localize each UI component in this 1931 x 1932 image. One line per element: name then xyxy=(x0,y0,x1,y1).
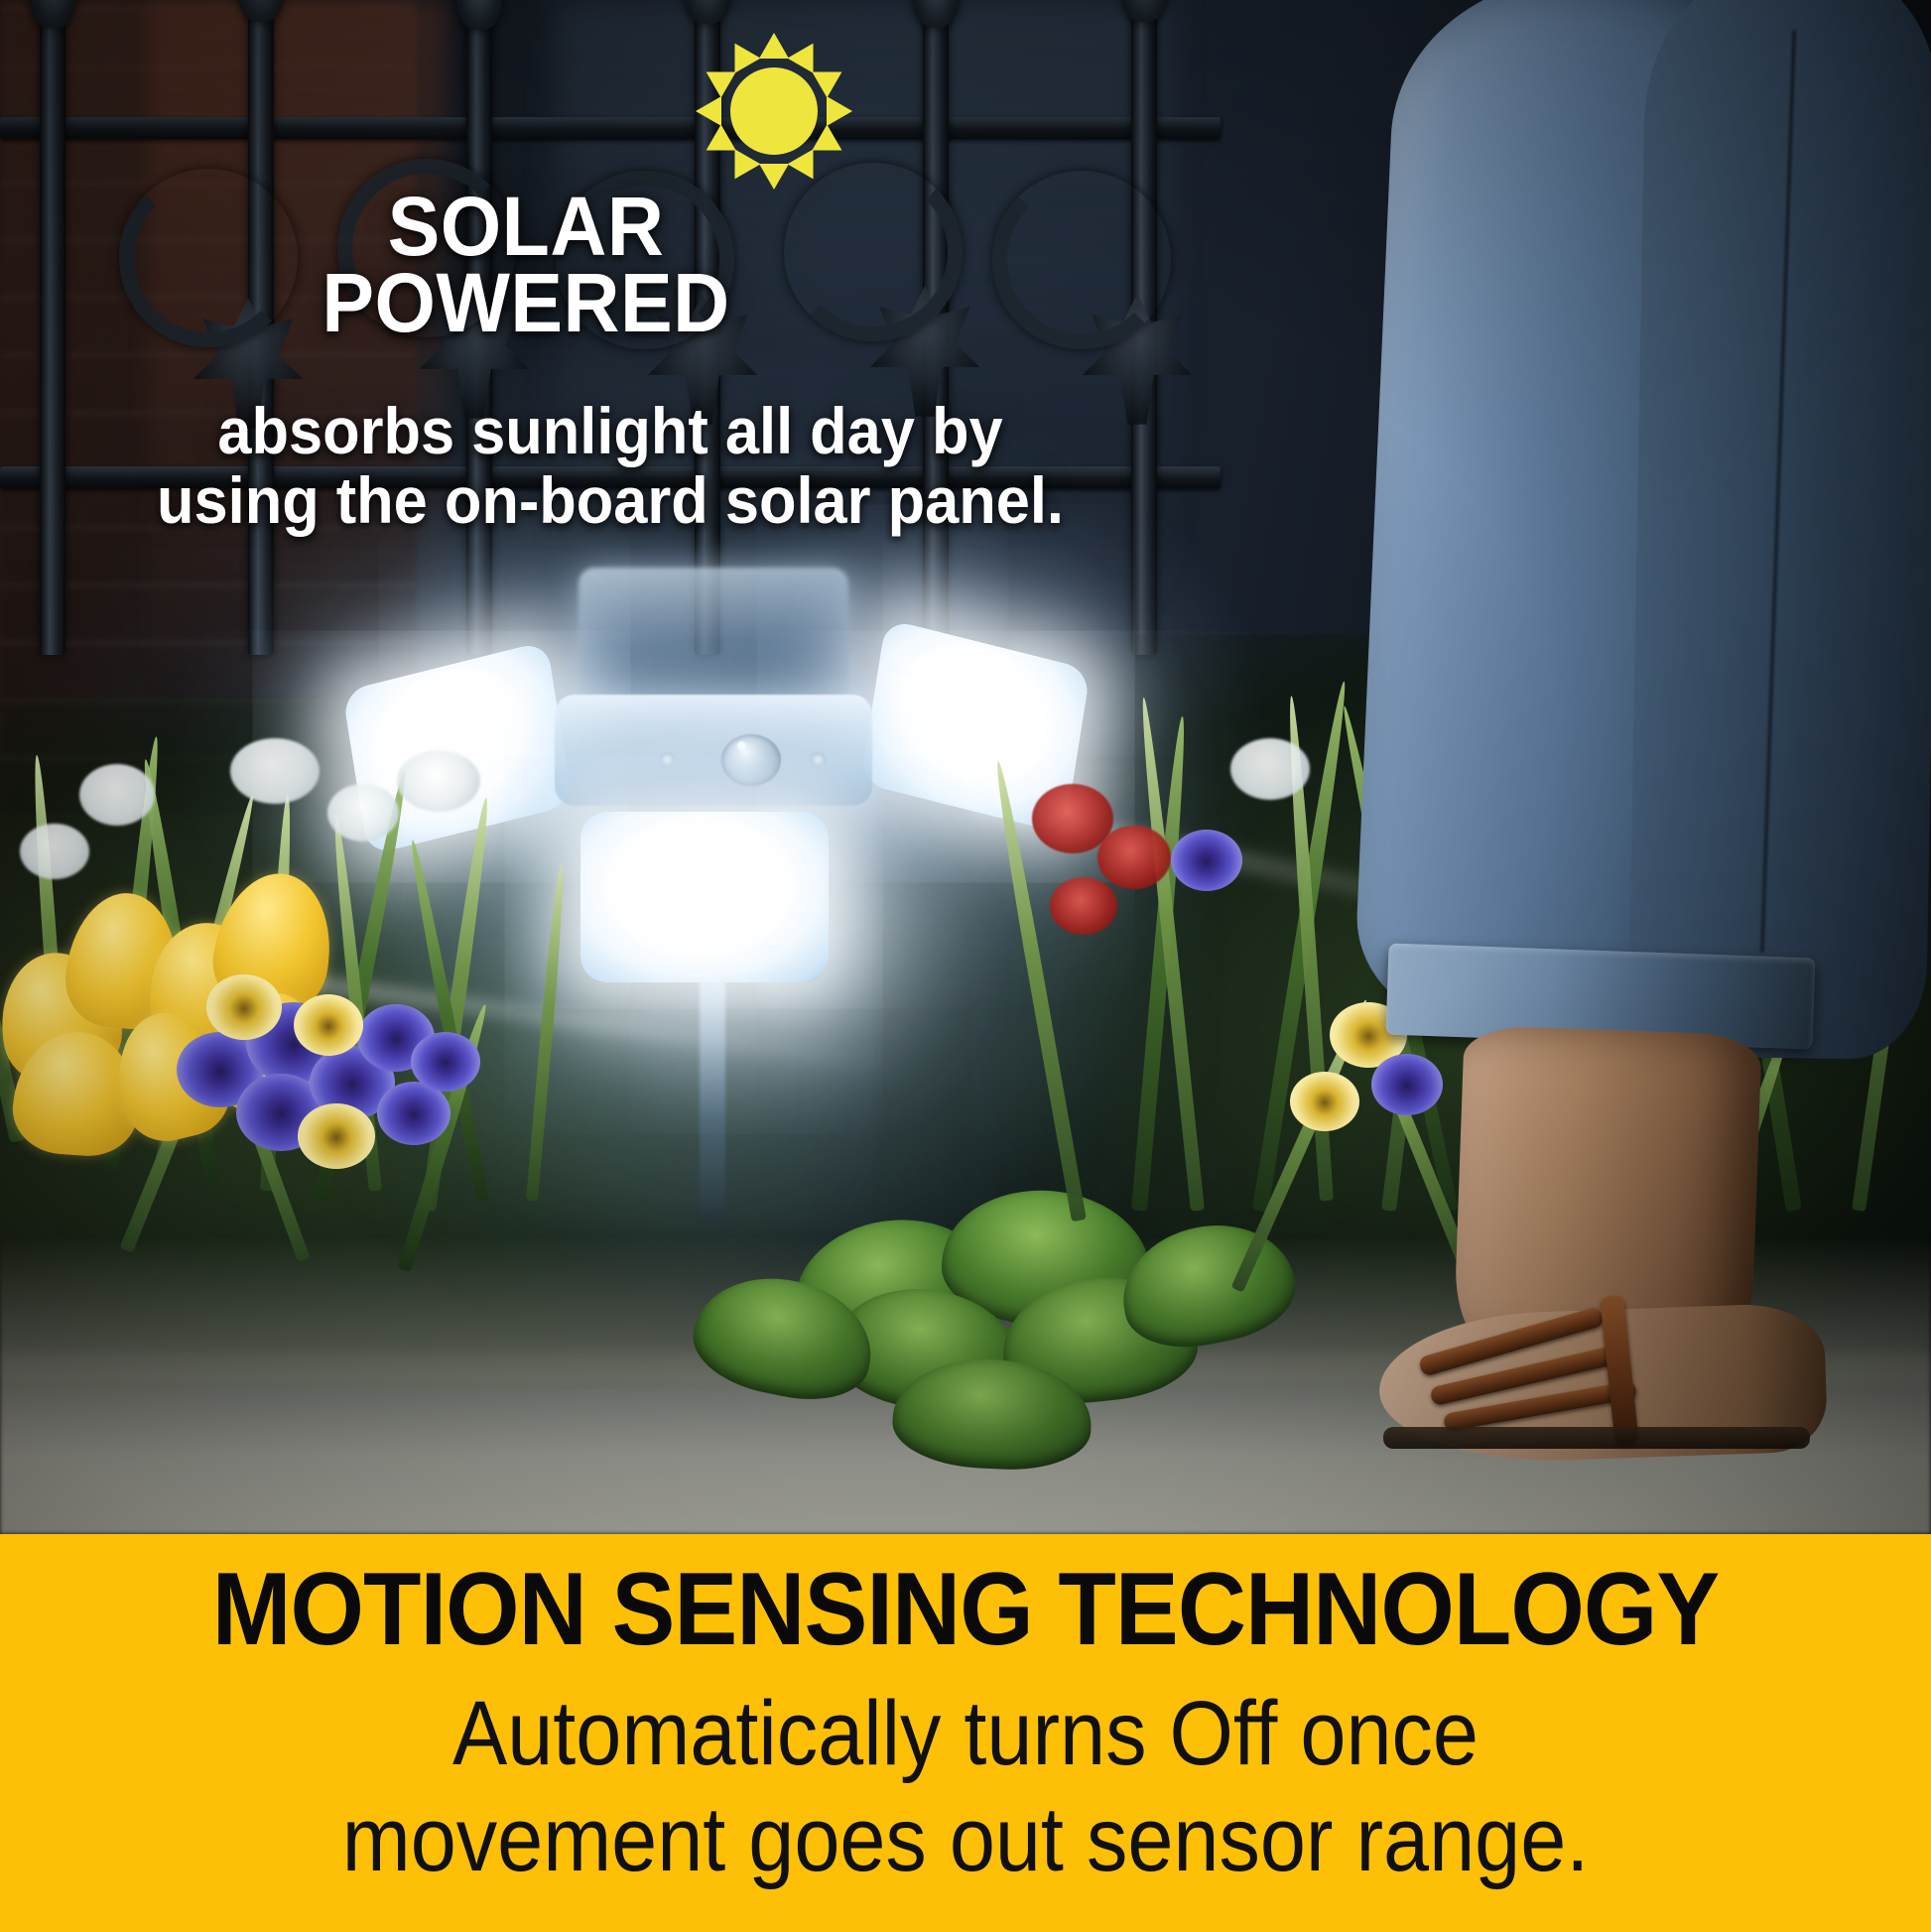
fence-finial xyxy=(238,0,284,22)
product-promo-poster: SOLAR POWERED absorbs sunlight all day b… xyxy=(0,0,1931,1932)
fence-scroll xyxy=(784,163,963,341)
sensor-led xyxy=(811,752,826,767)
fence-picket xyxy=(40,0,65,655)
fence-finial xyxy=(685,0,730,24)
fence-finial xyxy=(30,0,75,28)
fence-finial xyxy=(913,0,959,28)
fence-scroll xyxy=(337,159,516,337)
fence-rail-bottom xyxy=(0,466,1221,488)
banner-body: Automatically turns Off once movement go… xyxy=(96,1681,1834,1892)
banner-body-line-2: movement goes out sensor range. xyxy=(96,1787,1834,1893)
banner-body-line-1: Automatically turns Off once xyxy=(96,1681,1834,1787)
sensor-led xyxy=(660,752,675,767)
fence-finial xyxy=(1121,0,1167,22)
fence-scroll xyxy=(556,171,734,349)
product-photo xyxy=(0,0,1931,1534)
motion-sensor-housing xyxy=(555,695,872,806)
fence-scroll xyxy=(119,169,298,347)
fence-finial xyxy=(456,0,502,30)
mounting-pole xyxy=(700,963,725,1221)
solar-motion-light xyxy=(521,695,918,1022)
fence-rail-top xyxy=(0,117,1221,139)
sandal-sole xyxy=(1383,1427,1810,1449)
denim-jeans-leg-back xyxy=(1628,0,1931,1061)
person-legs xyxy=(1310,0,1931,1409)
fence-scroll xyxy=(992,171,1171,349)
motion-sensor-lens xyxy=(721,734,781,786)
banner-title: MOTION SENSING TECHNOLOGY xyxy=(77,1558,1854,1661)
feature-banner: MOTION SENSING TECHNOLOGY Automatically … xyxy=(0,1534,1931,1932)
led-head-center xyxy=(580,812,829,982)
sensor-indicator-dot xyxy=(737,741,746,750)
solar-panel xyxy=(579,568,848,699)
